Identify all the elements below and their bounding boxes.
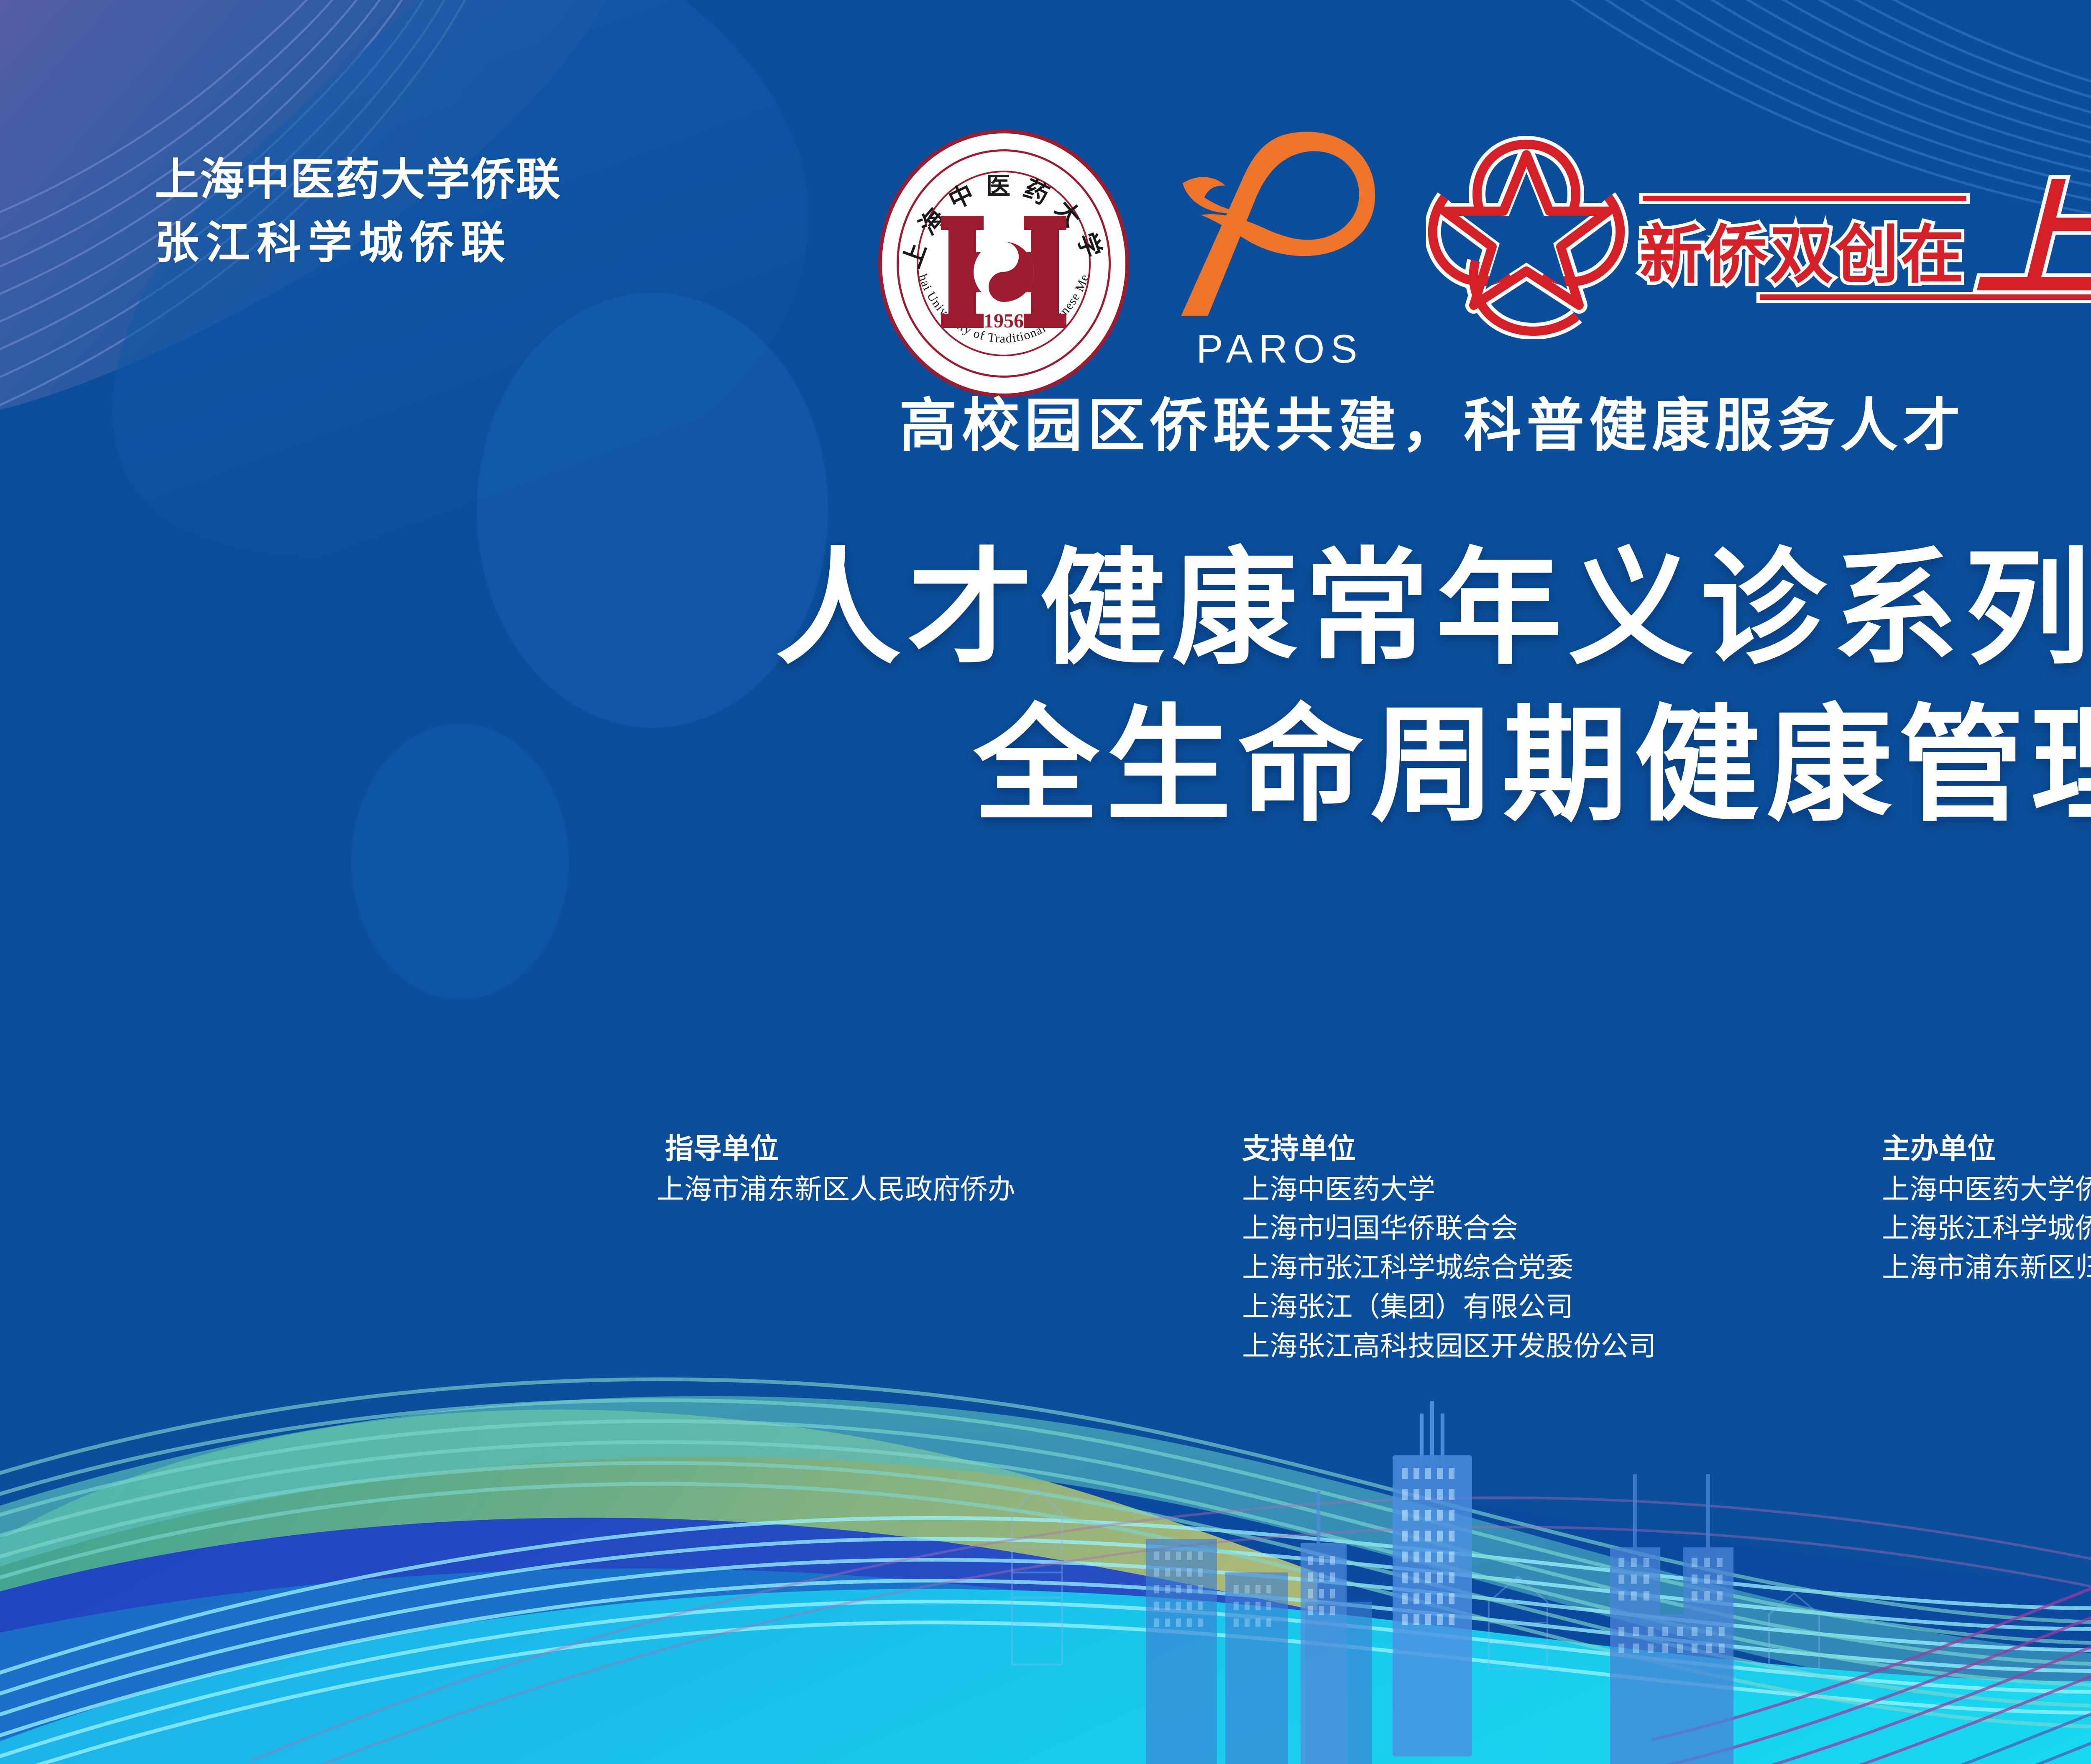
sponsor-item: 上海中医药大学侨联 — [1882, 1170, 2091, 1209]
xinqiao-shuangchuang-logo: 新侨双创在 上海 — [1426, 130, 2091, 364]
shanghai-university-tcm-seal-logo: 上海中医药大学 Shanghai University of Tradition… — [878, 130, 1129, 397]
sponsor-column-support: 支持单位 上海中医药大学 上海市归国华侨联合会 上海市张江科学城综合党委 上海张… — [1242, 1131, 1882, 1365]
sponsor-item: 上海市浦东新区归国留学人员联合会 — [1882, 1248, 2091, 1287]
sponsor-item: 上海张江高科技园区开发股份公司 — [1242, 1327, 1882, 1366]
sponsor-item: 上海市浦东新区人民政府侨办 — [657, 1170, 1242, 1209]
org-line-2: 张江科学城侨联 — [155, 212, 782, 275]
seal-founding-year: 1956 — [878, 309, 1129, 332]
sponsor-columns: 指导单位 上海市浦东新区人民政府侨办 支持单位 上海中医药大学 上海市归国华侨联… — [657, 1131, 2091, 1365]
paros-mark-icon — [1163, 130, 1397, 326]
sponsor-column-guidance: 指导单位 上海市浦东新区人民政府侨办 — [657, 1131, 1242, 1209]
org-line-1: 上海中医药大学侨联 — [155, 148, 782, 212]
xinqiao-text-shanghai: 上海 — [1974, 173, 2091, 312]
sponsor-item: 上海张江科学城侨联 — [1882, 1209, 2091, 1248]
sponsor-item: 上海张江（集团）有限公司 — [1242, 1287, 1882, 1327]
poster-canvas: 上海中医药大学侨联 张江科学城侨联 上海中医药大学 Shanghai Unive… — [0, 0, 2091, 1764]
xinqiao-artwork: 新侨双创在 上海 — [1426, 130, 2091, 339]
paros-logo: PAROS — [1163, 130, 1397, 397]
sponsor-item: 上海市张江科学城综合党委 — [1242, 1248, 1882, 1287]
main-title-line-2: 全生命周期健康管理 — [0, 693, 2091, 838]
main-title-line-1: 人才健康常年义诊系列活动 — [0, 539, 2091, 677]
poster-subtitle: 高校园区侨联共建，科普健康服务人才 — [899, 378, 2091, 462]
sponsor-heading: 指导单位 — [665, 1131, 1242, 1167]
logo-row: 上海中医药大学 Shanghai University of Tradition… — [878, 130, 2091, 397]
xinqiao-text-main: 新侨双创在 — [1639, 220, 1966, 291]
sponsor-heading: 支持单位 — [1242, 1131, 1882, 1167]
seal-artwork: 上海中医药大学 Shanghai University of Tradition… — [878, 130, 1129, 397]
poster-main-title: 人才健康常年义诊系列活动 全生命周期健康管理 — [0, 539, 2091, 838]
sponsor-heading: 主办单位 — [1882, 1131, 2091, 1167]
sponsor-item: 上海市归国华侨联合会 — [1242, 1209, 1882, 1248]
host-organization-block: 上海中医药大学侨联 张江科学城侨联 — [155, 148, 782, 274]
paros-wordmark: PAROS — [1163, 326, 1397, 372]
sponsor-column-organizer: 主办单位 上海中医药大学侨联 上海张江科学城侨联 上海市浦东新区归国留学人员联合… — [1882, 1131, 2091, 1287]
star-knot-icon — [1433, 144, 1621, 331]
sponsor-item: 上海中医药大学 — [1242, 1170, 1882, 1209]
